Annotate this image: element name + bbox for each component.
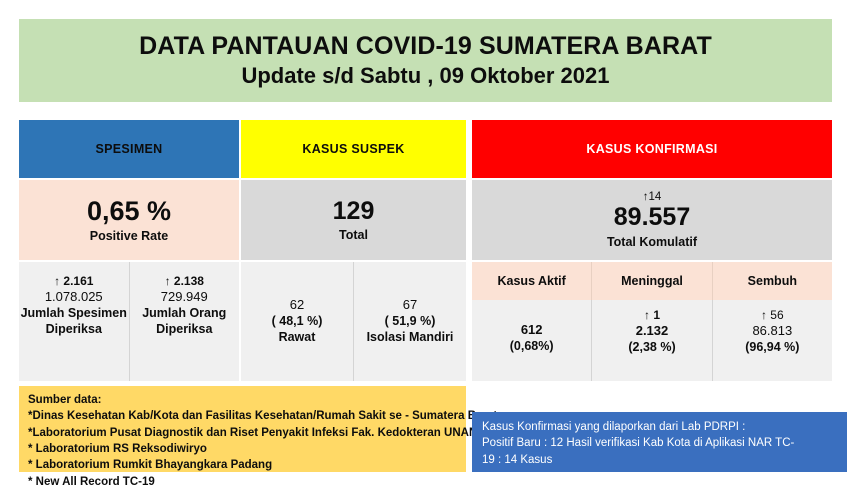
konfirmasi-percent: (0,68%) — [510, 339, 554, 355]
suspek-total-card: 129 Total — [241, 180, 466, 260]
suspek-cells: 62 ( 48,1 %) Rawat 67 ( 51,9 %) Isolasi … — [241, 262, 466, 381]
column-header-sembuh: Sembuh — [713, 262, 832, 300]
suspek-total-value: 129 — [333, 198, 375, 224]
spesimen-label-line2: Diperiksa — [156, 322, 212, 338]
note-line: Kasus Konfirmasi yang dilaporkan dari La… — [482, 419, 837, 435]
konfirmasi-cell-kasus-aktif: 612 (0,68%) — [472, 300, 592, 381]
konfirmasi-value: 86.813 — [752, 323, 792, 340]
suspek-percent: ( 51,9 %) — [385, 314, 436, 330]
konfirmasi-total-value: 89.557 — [614, 204, 690, 232]
suspek-cell-isolasi-mandiri: 67 ( 51,9 %) Isolasi Mandiri — [354, 262, 466, 381]
note-line: Positif Baru : 12 Hasil verifikasi Kab K… — [482, 435, 837, 451]
spesimen-label-line1: Jumlah Orang — [142, 306, 226, 322]
suspek-total-label: Total — [339, 228, 368, 242]
positive-rate-card: 0,65 % Positive Rate — [19, 180, 239, 260]
konfirmasi-percent: (2,38 %) — [628, 340, 675, 356]
delta-indicator: ↑ 56 — [761, 308, 784, 323]
page-title: DATA PANTAUAN COVID-19 SUMATERA BARAT — [139, 33, 712, 60]
sumber-data-box: Sumber data: *Dinas Kesehatan Kab/Kota d… — [19, 386, 466, 472]
konfirmasi-percent: (96,94 %) — [745, 340, 799, 356]
section-header-kasus-konfirmasi: KASUS KONFIRMASI — [472, 120, 832, 178]
page-subtitle: Update s/d Sabtu , 09 Oktober 2021 — [241, 63, 609, 88]
sumber-data-item: * Laboratorium Rumkit Bhayangkara Padang — [28, 457, 466, 473]
spesimen-label-line1: Jumlah Spesimen — [21, 306, 127, 322]
suspek-percent: ( 48,1 %) — [272, 314, 323, 330]
section-header-kasus-suspek: KASUS SUSPEK — [241, 120, 466, 178]
konfirmasi-cells: 612 (0,68%) ↑ 1 2.132 (2,38 %) ↑ 56 86.8… — [472, 300, 832, 381]
spesimen-cell-jumlah-spesimen: ↑ 2.161 1.078.025 Jumlah Spesimen Diperi… — [19, 262, 130, 381]
suspek-label: Isolasi Mandiri — [367, 330, 454, 346]
delta-indicator: ↑14 — [643, 191, 662, 204]
spesimen-cell-jumlah-orang: ↑ 2.138 729.949 Jumlah Orang Diperiksa — [130, 262, 240, 381]
konfirmasi-value: 612 — [521, 322, 543, 339]
positive-rate-value: 0,65 % — [87, 197, 171, 225]
column-header-kasus-aktif: Kasus Aktif — [472, 262, 592, 300]
spesimen-cells: ↑ 2.161 1.078.025 Jumlah Spesimen Diperi… — [19, 262, 239, 381]
sumber-data-title: Sumber data: — [28, 392, 466, 408]
spesimen-label-line2: Diperiksa — [46, 322, 102, 338]
konfirmasi-total-label: Total Komulatif — [607, 235, 697, 249]
dashboard-page: DATA PANTAUAN COVID-19 SUMATERA BARAT Up… — [0, 0, 854, 482]
konfirmasi-cell-sembuh: ↑ 56 86.813 (96,94 %) — [713, 300, 832, 381]
konfirmasi-total-card: ↑14 89.557 Total Komulatif — [472, 180, 832, 260]
sumber-data-item: *Laboratorium Pusat Diagnostik dan Riset… — [28, 425, 466, 441]
sumber-data-item: * Laboratorium RS Reksodiwiryo — [28, 441, 466, 457]
konfirmasi-cell-meninggal: ↑ 1 2.132 (2,38 %) — [592, 300, 712, 381]
sumber-data-item: *Dinas Kesehatan Kab/Kota dan Fasilitas … — [28, 408, 466, 424]
delta-indicator: ↑ 1 — [644, 308, 660, 323]
konfirmasi-value: 2.132 — [636, 323, 669, 340]
delta-indicator: ↑ 2.138 — [165, 274, 204, 289]
lab-report-note-box: Kasus Konfirmasi yang dilaporkan dari La… — [472, 412, 847, 472]
title-banner: DATA PANTAUAN COVID-19 SUMATERA BARAT Up… — [19, 19, 832, 102]
section-header-spesimen: SPESIMEN — [19, 120, 239, 178]
suspek-value: 67 — [403, 297, 417, 314]
spesimen-value: 1.078.025 — [45, 289, 103, 306]
suspek-value: 62 — [290, 297, 304, 314]
note-line: 19 : 14 Kasus — [482, 452, 837, 468]
suspek-cell-rawat: 62 ( 48,1 %) Rawat — [241, 262, 354, 381]
konfirmasi-column-headers: Kasus Aktif Meninggal Sembuh — [472, 262, 832, 300]
positive-rate-label: Positive Rate — [90, 229, 169, 243]
suspek-label: Rawat — [279, 330, 316, 346]
column-header-meninggal: Meninggal — [592, 262, 712, 300]
delta-indicator: ↑ 2.161 — [54, 274, 93, 289]
spesimen-value: 729.949 — [161, 289, 208, 306]
